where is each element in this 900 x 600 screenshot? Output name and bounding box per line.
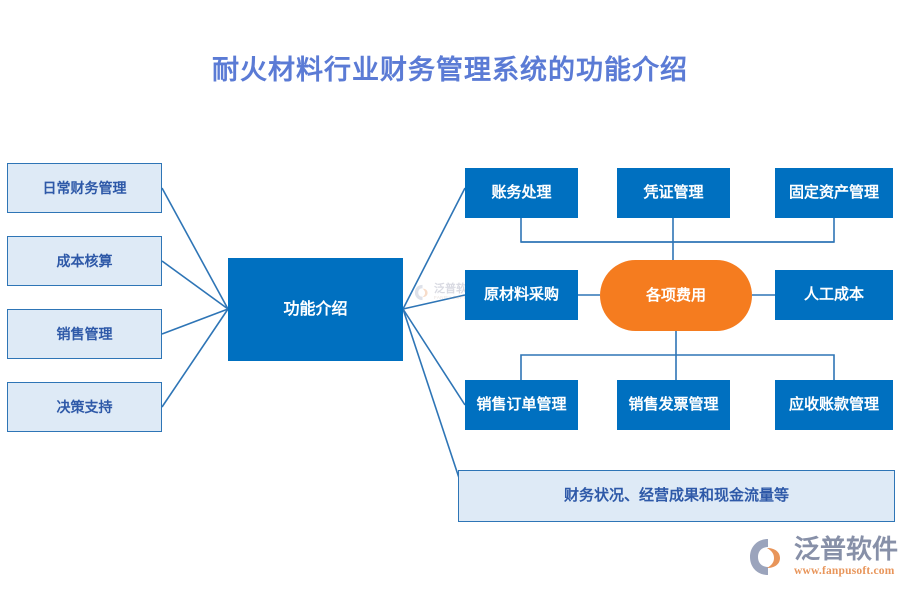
node-label: 销售管理	[57, 326, 113, 343]
brand-name: 泛普软件	[794, 536, 898, 562]
node-label: 财务状况、经营成果和现金流量等	[564, 487, 789, 505]
node-sales-order-management[interactable]: 销售订单管理	[465, 380, 578, 430]
node-label: 成本核算	[57, 253, 113, 270]
node-fixed-asset-management[interactable]: 固定资产管理	[775, 168, 893, 218]
node-label: 凭证管理	[643, 184, 703, 202]
brand-logo: 泛普软件 www.fanpusoft.com	[748, 536, 898, 578]
node-label: 功能介绍	[283, 300, 347, 319]
diagram-canvas: 耐火材料行业财务管理系统的功能介绍	[0, 0, 900, 600]
input-node-daily-finance[interactable]: 日常财务管理	[7, 163, 162, 213]
input-node-decision-support[interactable]: 决策支持	[7, 382, 162, 432]
node-accounting-processing[interactable]: 账务处理	[465, 168, 578, 218]
node-labor-cost[interactable]: 人工成本	[775, 270, 893, 320]
node-label: 应收账款管理	[789, 396, 879, 414]
brand-url: www.fanpusoft.com	[794, 566, 898, 578]
node-label: 各项费用	[646, 287, 706, 305]
node-label: 人工成本	[804, 286, 864, 304]
node-label: 日常财务管理	[43, 180, 127, 197]
node-label: 销售发票管理	[628, 396, 718, 414]
node-label: 决策支持	[57, 399, 113, 416]
node-label: 账务处理	[491, 184, 551, 202]
center-node-function-intro[interactable]: 功能介绍	[228, 258, 403, 361]
node-label: 销售订单管理	[476, 396, 566, 414]
node-label: 原材料采购	[484, 286, 559, 304]
node-receivables-management[interactable]: 应收账款管理	[775, 380, 893, 430]
fanpu-logo-icon	[414, 284, 431, 301]
input-node-sales-management[interactable]: 销售管理	[7, 309, 162, 359]
node-various-expenses[interactable]: 各项费用	[600, 260, 752, 331]
fanpu-logo-icon	[748, 537, 788, 577]
input-node-cost-accounting[interactable]: 成本核算	[7, 236, 162, 286]
node-raw-material-purchase[interactable]: 原材料采购	[465, 270, 578, 320]
page-title: 耐火材料行业财务管理系统的功能介绍	[0, 48, 900, 87]
node-voucher-management[interactable]: 凭证管理	[617, 168, 730, 218]
node-financial-report-summary[interactable]: 财务状况、经营成果和现金流量等	[458, 470, 895, 522]
node-sales-invoice-management[interactable]: 销售发票管理	[617, 380, 730, 430]
node-label: 固定资产管理	[789, 184, 879, 202]
